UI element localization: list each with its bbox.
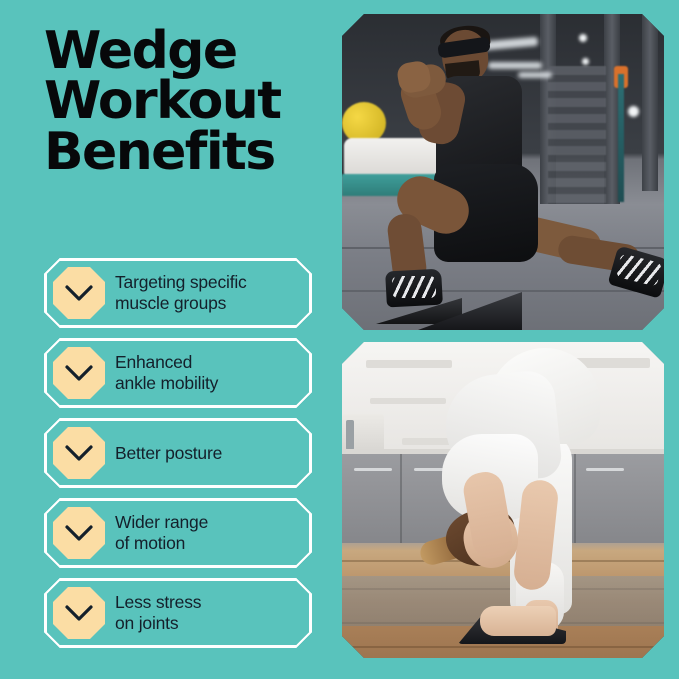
check-icon — [53, 507, 105, 559]
yoga-forward-fold-photo — [342, 342, 664, 658]
page-title: Wedge Workout Benefits — [44, 26, 334, 177]
benefit-label: Targeting specific muscle groups — [115, 272, 247, 314]
benefit-label: Less stress on joints — [115, 592, 201, 634]
benefit-item-wider-range-of-motion: Wider range of motion — [44, 498, 312, 568]
poster-root: Wedge Workout Benefits Targeting specifi… — [0, 0, 679, 679]
benefit-label: Wider range of motion — [115, 512, 208, 554]
check-icon — [53, 587, 105, 639]
benefit-item-targeting-muscle-groups: Targeting specific muscle groups — [44, 258, 312, 328]
title-line-3: Benefits — [44, 127, 334, 177]
gym-lunge-illustration — [342, 14, 664, 330]
left-column: Wedge Workout Benefits Targeting specifi… — [0, 0, 340, 679]
check-icon — [53, 427, 105, 479]
title-line-1: Wedge — [44, 26, 334, 76]
yoga-forward-fold-illustration — [342, 342, 664, 658]
benefit-label: Enhanced ankle mobility — [115, 352, 218, 394]
title-line-2: Workout — [44, 76, 334, 126]
photo-column — [342, 14, 664, 658]
check-icon — [53, 267, 105, 319]
gym-lunge-photo — [342, 14, 664, 330]
benefit-label: Better posture — [115, 443, 222, 464]
benefits-list: Targeting specific muscle groups Enhance… — [44, 258, 312, 658]
benefit-item-ankle-mobility: Enhanced ankle mobility — [44, 338, 312, 408]
benefit-item-less-stress-on-joints: Less stress on joints — [44, 578, 312, 648]
benefit-item-better-posture: Better posture — [44, 418, 312, 488]
check-icon — [53, 347, 105, 399]
